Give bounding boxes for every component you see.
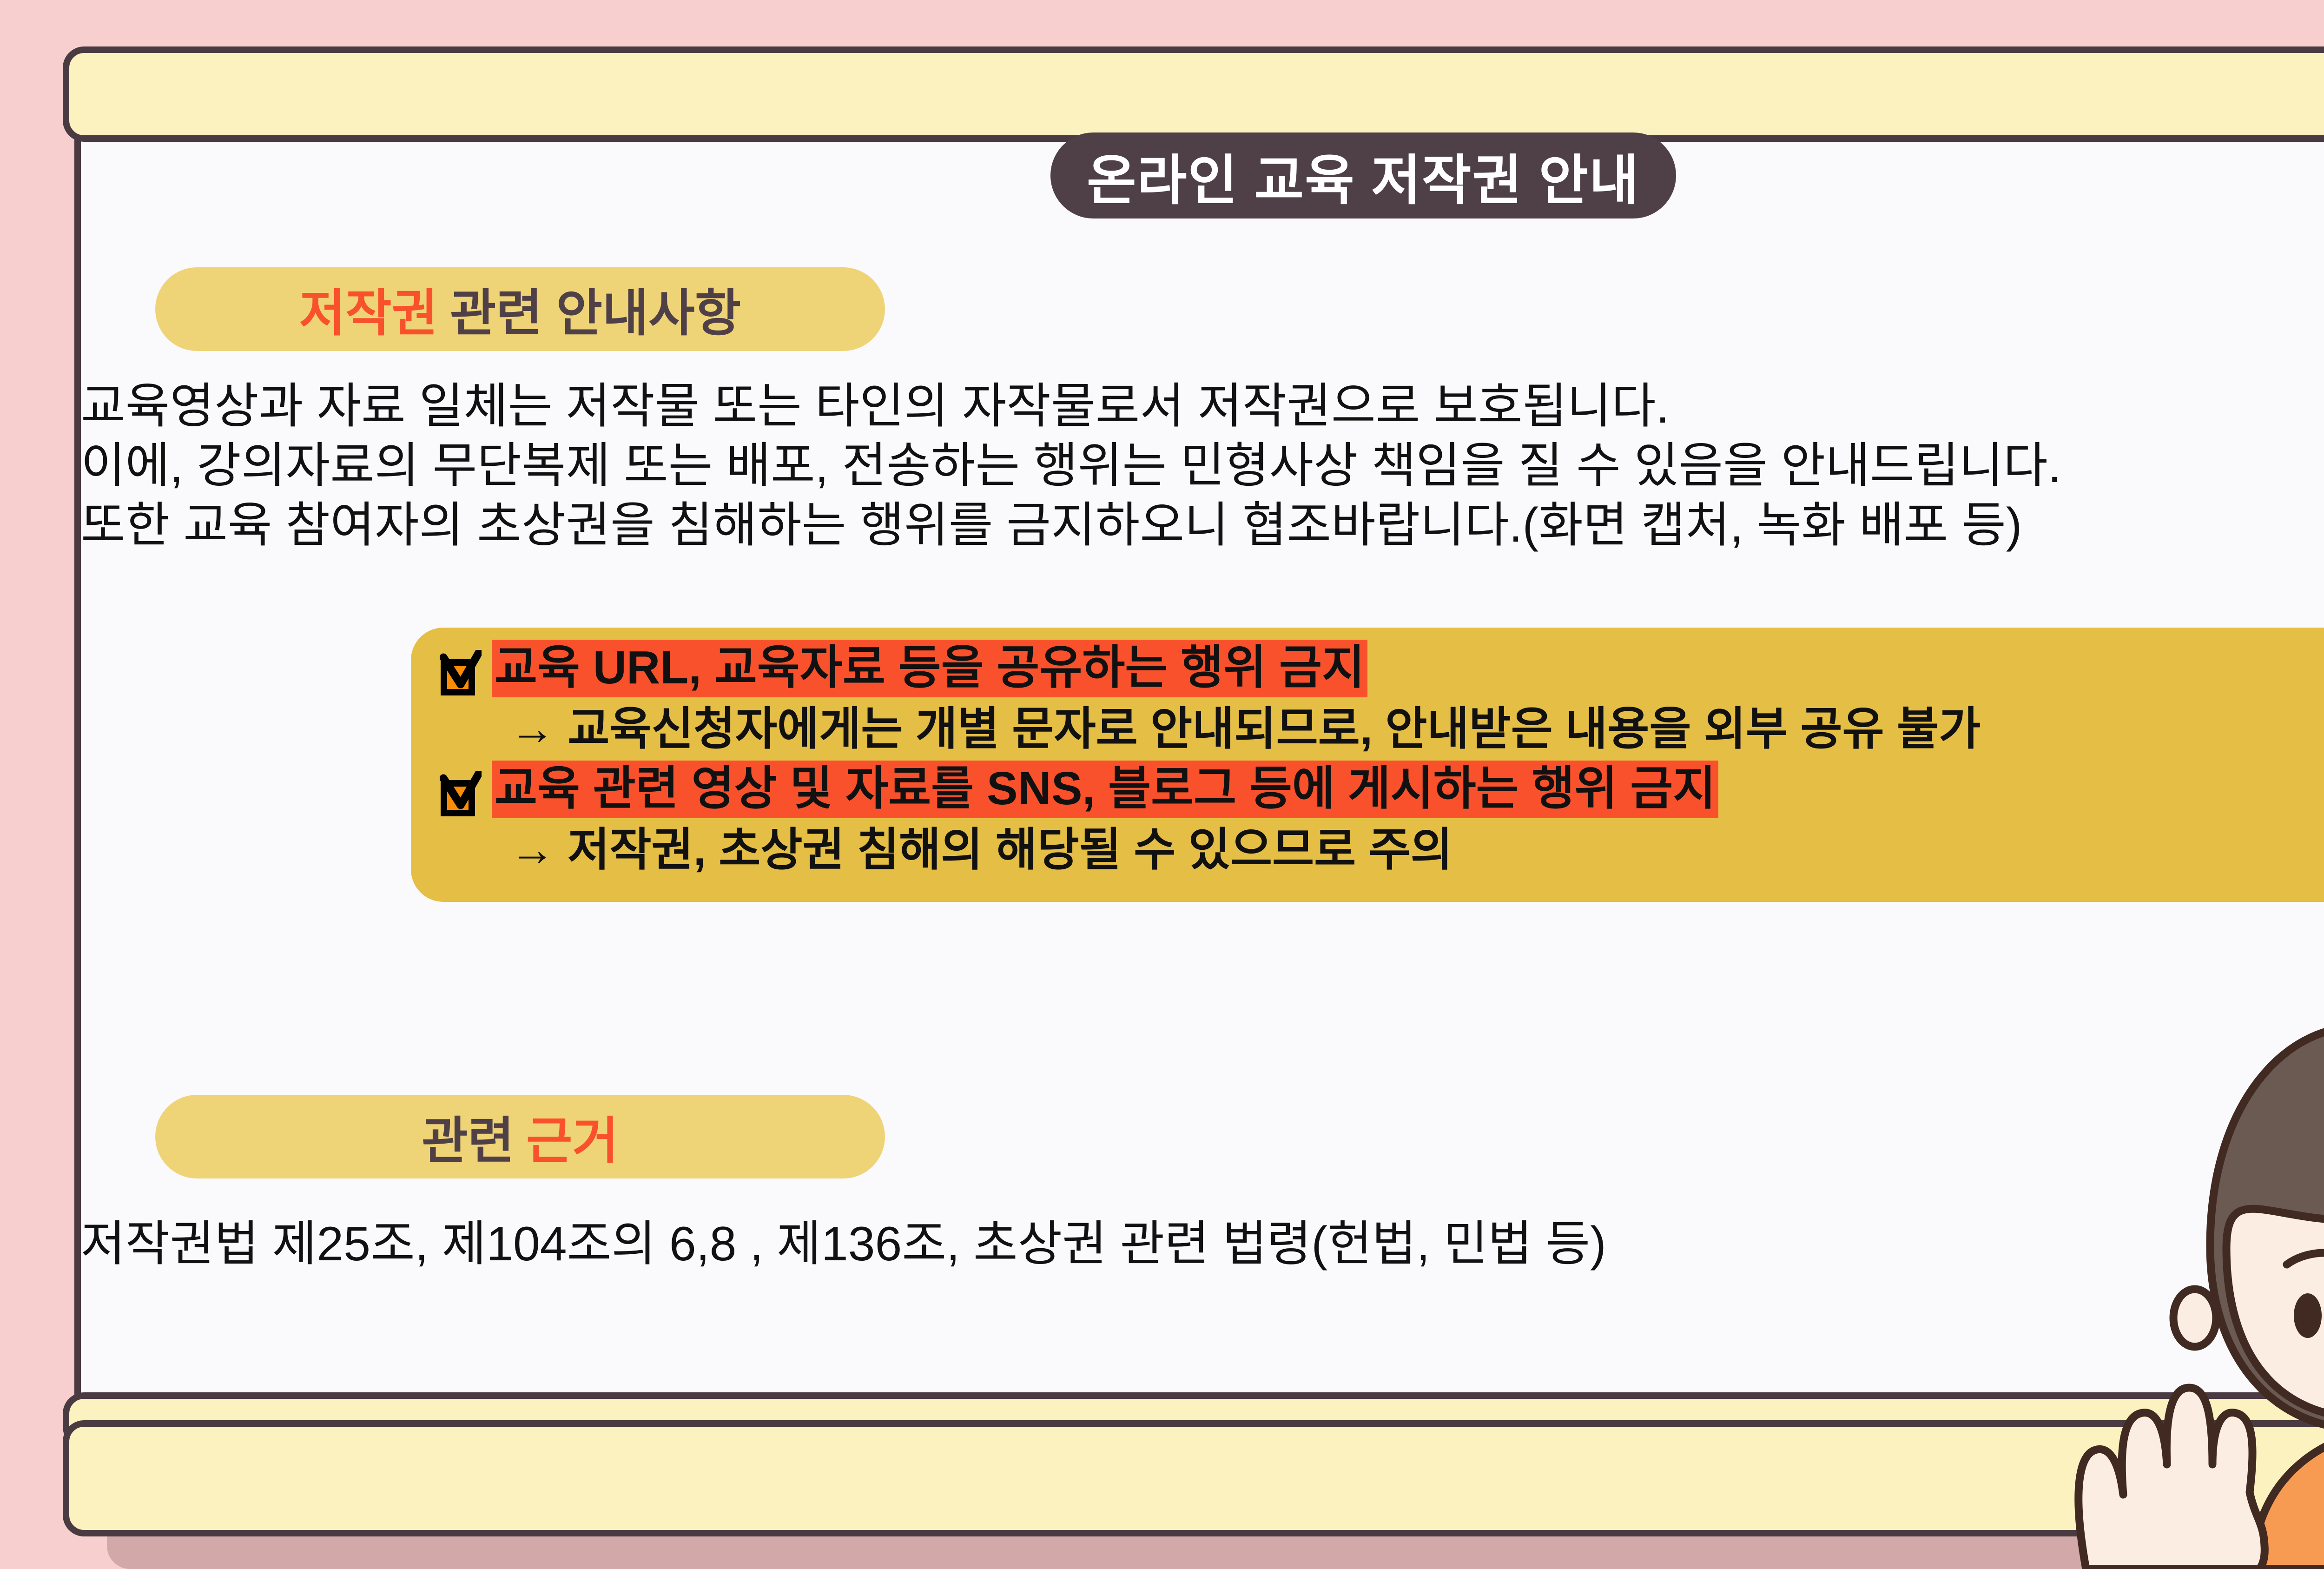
legal-basis-reference: 저작권법 제25조, 제104조의 6,8 , 제136조, 초상권 관련 법령… (81, 1204, 1606, 1274)
boy-stop-gesture-illustration (2045, 948, 2324, 1569)
section-header-basis-accent: 근거 (526, 1100, 619, 1173)
page-title: 온라인 교육 저작권 안내 (1050, 132, 1676, 218)
section-header-notice: 저작권 관련 안내사항 (155, 267, 885, 351)
board-bottom-rail (63, 1420, 2324, 1536)
checklist-item: 교육 관련 영상 및 자료를 SNS, 블로그 등에 게시하는 행위 금지 (439, 762, 2324, 817)
section-header-notice-rest: 관련 안내사항 (450, 273, 741, 345)
checklist-item-highlight: 교육 관련 영상 및 자료를 SNS, 블로그 등에 게시하는 행위 금지 (492, 761, 1718, 818)
checklist-item: 교육 URL, 교육자료 등을 공유하는 행위 금지 (439, 642, 2324, 696)
prohibition-checklist-panel: 교육 URL, 교육자료 등을 공유하는 행위 금지 → 교육신청자에게는 개별… (411, 628, 2324, 902)
ballot-box-with-check-icon[interactable] (439, 771, 479, 817)
notice-paragraph-line: 이에, 강의자료의 무단복제 또는 배포, 전송하는 행위는 민형사상 책임을 … (81, 436, 2324, 496)
slide-content: 저작권 관련 안내사항 교육영상과 자료 일체는 저작물 또는 타인의 자작물로… (81, 218, 2324, 1399)
checklist-item-label: 교육 관련 영상 및 자료를 SNS, 블로그 등에 게시하는 행위 금지 (492, 762, 1718, 814)
section-header-notice-accent: 저작권 (299, 273, 438, 345)
page-title-label: 온라인 교육 저작권 안내 (1087, 137, 1640, 215)
board-top-rail (63, 46, 2324, 142)
notice-paragraph-line: 또한 교육 참여자의 초상권을 침해하는 행위를 금지하오니 협조바랍니다.(화… (81, 496, 2324, 555)
ballot-box-with-check-icon[interactable] (439, 650, 479, 696)
checklist-item-subnote: → 저작권, 초상권 침해의 해당될 수 있으므로 주의 (439, 822, 2324, 877)
notice-paragraph-line: 교육영상과 자료 일체는 저작물 또는 타인의 자작물로서 저작권으로 보호됩니… (81, 377, 2324, 436)
section-header-basis-label: 관련 (422, 1100, 514, 1173)
section-header-basis: 관련 근거 (155, 1095, 885, 1178)
checklist-item-label: 교육 URL, 교육자료 등을 공유하는 행위 금지 (492, 642, 1367, 694)
notice-paragraph: 교육영상과 자료 일체는 저작물 또는 타인의 자작물로서 저작권으로 보호됩니… (81, 377, 2324, 555)
checklist-item-highlight: 교육 URL, 교육자료 등을 공유하는 행위 금지 (492, 640, 1367, 697)
checklist-item-subnote: → 교육신청자에게는 개별 문자로 안내되므로, 안내받은 내용을 외부 공유 … (439, 701, 2324, 756)
